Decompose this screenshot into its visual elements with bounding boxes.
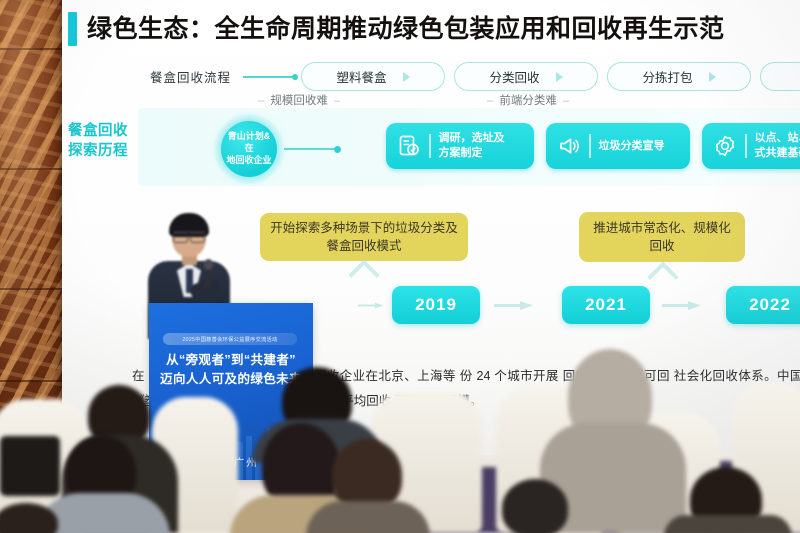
card-divider	[589, 134, 591, 158]
process-card-label: 垃圾分类宣导	[599, 139, 665, 154]
flow-pill-sorting-packing[interactable]: 分拣打包	[607, 62, 751, 91]
audience-area	[0, 383, 800, 533]
circle-label: 青山计划&在 地回收企业	[221, 121, 277, 177]
chevron-right-icon	[556, 72, 563, 82]
process-section-label: 餐盒回收 探索历程	[68, 122, 138, 161]
chevron-right-icon	[403, 72, 410, 82]
flow-pill-sorted-collection[interactable]: 分类回收	[454, 62, 598, 91]
flow-note-scale-difficulty: 规模回收难	[252, 92, 346, 108]
callout-text: 推进城市常态化、规模化回收	[589, 219, 735, 255]
eyeglasses-icon	[173, 231, 205, 241]
process-card-infrastructure[interactable]: 以点、站、场的形 式共建基础设施	[702, 123, 800, 169]
para-seg: 份 24 个城市开展	[460, 369, 559, 383]
title-accent-bar	[68, 12, 77, 46]
timeline-year-2019[interactable]: 2019	[392, 286, 480, 324]
para-seg: 社会化回收体系。中国物	[674, 369, 800, 383]
flow-pill-label: 塑料餐盒	[337, 67, 387, 86]
flow-pill-label: 分类回收	[490, 67, 540, 86]
callout-connector-chevron	[647, 261, 678, 292]
megaphone-icon	[557, 134, 581, 158]
flow-pill-label: 分拣打包	[643, 67, 693, 86]
flow-pill-plastic-box[interactable]: 塑料餐盒	[301, 62, 445, 91]
year-label: 2019	[415, 295, 457, 315]
recycling-flow-row: 餐盒回收流程 塑料餐盒 分类回收 分拣打包	[150, 62, 800, 91]
timeline-arrow-icon	[494, 300, 534, 311]
year-label: 2021	[585, 295, 627, 315]
flow-label: 餐盒回收流程	[150, 67, 231, 86]
podium-line-1: 从“旁观者”到“共建者”	[156, 351, 306, 370]
podium-ribbon-text: 2025中国慈善会环保公益展序交流活动	[163, 333, 297, 345]
timeline-year-2022[interactable]: 2022	[726, 286, 800, 324]
process-card-survey[interactable]: 调研，选址及 方案制定	[386, 123, 534, 169]
callout-connector-chevron	[348, 259, 379, 290]
flow-pill-cutoff[interactable]	[760, 62, 800, 91]
document-check-icon	[397, 134, 421, 158]
timeline-arrow-icon	[358, 300, 384, 311]
callout-2022: 推进城市常态化、规模化回收	[579, 212, 745, 262]
card-divider	[745, 134, 747, 158]
timeline-arrow-icon	[662, 300, 702, 311]
process-origin-circle[interactable]: 青山计划&在 地回收企业	[214, 114, 284, 184]
foreground-equipment	[0, 436, 60, 496]
timeline-year-2021[interactable]: 2021	[562, 286, 650, 324]
process-card-label: 以点、站、场的形 式共建基础设施	[755, 131, 800, 161]
year-label: 2022	[749, 295, 791, 315]
page-title: 绿色生态：全生命周期推动绿色包装应用和回收再生示范	[87, 17, 725, 42]
process-card-label: 调研，选址及 方案制定	[439, 131, 505, 161]
flow-note-frontend-difficulty: 前端分类难	[481, 92, 575, 108]
chevron-right-icon	[709, 72, 716, 82]
process-card-education[interactable]: 垃圾分类宣导	[546, 123, 690, 169]
callout-2019: 开始探索多种场景下的垃圾分类及餐盒回收模式	[260, 213, 468, 261]
slide-title-row: 绿色生态：全生命周期推动绿色包装应用和回收再生示范	[68, 12, 725, 46]
circle-connector-line	[284, 148, 338, 150]
conference-photo: 绿色生态：全生命周期推动绿色包装应用和回收再生示范 餐盒回收流程 塑料餐盒 分类…	[0, 0, 800, 533]
card-divider	[429, 134, 431, 158]
callout-text: 开始探索多种场景下的垃圾分类及餐盒回收模式	[270, 219, 458, 255]
flow-connector-line	[243, 76, 295, 78]
gear-icon	[713, 134, 737, 158]
